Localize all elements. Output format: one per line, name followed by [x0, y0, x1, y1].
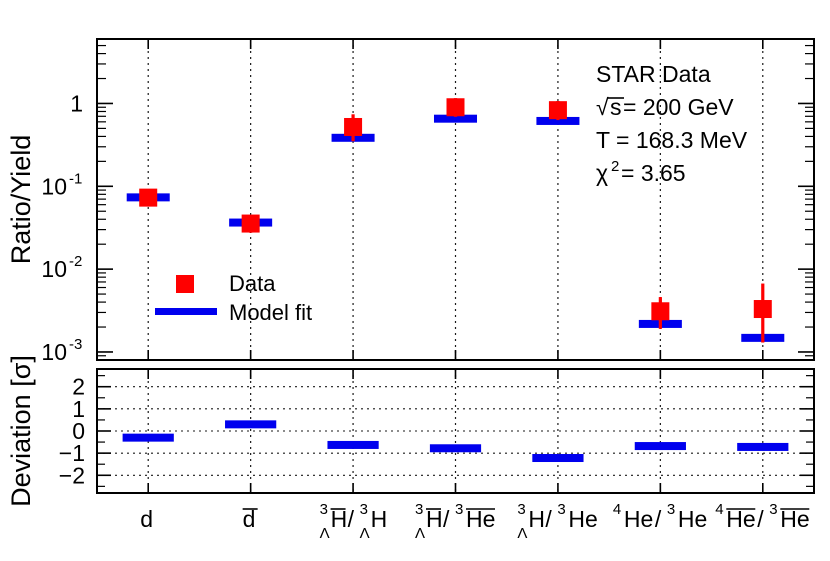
xlabel-species: d	[243, 506, 256, 532]
legend-data-label: Data	[229, 271, 276, 296]
chi-exponent: 2	[611, 158, 619, 175]
xlabel-species: He	[780, 506, 809, 532]
data-marker	[754, 300, 772, 318]
xlabel-lambda-subscript: Λ	[360, 525, 370, 542]
xlabel-species: He	[568, 506, 597, 532]
chi-squared-value: = 3.65	[621, 160, 686, 186]
lower-panel-y-axis-title: Deviation [σ]	[6, 355, 36, 507]
deviation-bar	[123, 434, 174, 442]
xlabel-species: H	[426, 506, 443, 532]
xlabel-ratio-separator: /	[655, 506, 662, 532]
xlabel-ratio-separator: /	[545, 506, 552, 532]
xlabel-mass-number: 3	[557, 501, 565, 518]
figure-root: 110-110-210-3Ratio/Yield 210−1−2Deviatio…	[0, 0, 830, 561]
xlabel-mass-number: 3	[517, 501, 525, 518]
x-axis-category-label: d	[140, 506, 153, 532]
deviation-bar	[635, 442, 686, 450]
x-axis-category-label: d	[243, 506, 258, 532]
deviation-bar	[225, 420, 276, 428]
x-axis-category-label: 4He/3He	[715, 501, 809, 532]
data-marker	[139, 189, 157, 207]
legend-model-swatch	[155, 308, 217, 315]
xlabel-ratio-separator: /	[757, 506, 764, 532]
upper-ytick-label: 10	[41, 339, 67, 365]
upper-ytick-label: 10	[41, 256, 67, 282]
data-marker	[549, 101, 567, 119]
upper-ytick-label-exp: -2	[69, 253, 82, 270]
deviation-bar	[532, 454, 583, 462]
sqrt-radical-icon: √	[596, 94, 609, 120]
deviation-bar	[430, 444, 481, 452]
xlabel-mass-number: 3	[769, 501, 777, 518]
xlabel-mass-number: 4	[715, 501, 723, 518]
xlabel-lambda-subscript: Λ	[320, 525, 330, 542]
xlabel-species: H	[371, 506, 388, 532]
xlabel-mass-number: 3	[455, 501, 463, 518]
physics-ratio-yield-plot: 110-110-210-3Ratio/Yield 210−1−2Deviatio…	[0, 0, 830, 561]
upper-ytick-label-exp: -1	[69, 170, 82, 187]
chi-symbol: χ	[596, 160, 608, 186]
xlabel-species: He	[678, 506, 707, 532]
annotation-star-data: STAR Data	[596, 61, 711, 87]
deviation-bar	[327, 441, 378, 449]
xlabel-mass-number: 3	[360, 501, 368, 518]
upper-panel-y-axis-title: Ratio/Yield	[6, 135, 36, 265]
data-marker	[651, 302, 669, 320]
xlabel-mass-number: 3	[320, 501, 328, 518]
xlabel-mass-number: 3	[415, 501, 423, 518]
upper-ytick-label: 10	[41, 173, 67, 199]
legend-model-label: Model fit	[229, 300, 312, 325]
x-axis-category-label: 4He/3He	[613, 501, 707, 532]
xlabel-species: H	[528, 506, 545, 532]
upper-ytick-label-exp: -3	[69, 336, 82, 353]
sqrt-s-value: = 200 GeV	[623, 94, 734, 120]
data-marker	[242, 215, 260, 233]
xlabel-lambda-subscript: Λ	[415, 525, 425, 542]
xlabel-mass-number: 3	[667, 501, 675, 518]
xlabel-species: He	[466, 506, 495, 532]
lower-ytick-label: −2	[59, 462, 85, 488]
xlabel-species: H	[331, 506, 348, 532]
xlabel-lambda-subscript: Λ	[517, 525, 527, 542]
data-marker	[344, 118, 362, 136]
xlabel-mass-number: 4	[613, 501, 621, 518]
annotation-sqrt-s: √s = 200 GeV	[596, 94, 734, 120]
xlabel-species: He	[726, 506, 755, 532]
upper-ytick-label: 1	[70, 90, 83, 116]
deviation-bar	[737, 443, 788, 451]
xlabel-ratio-separator: /	[443, 506, 450, 532]
legend-data-swatch	[176, 275, 194, 293]
xlabel-species: He	[624, 506, 653, 532]
data-marker	[447, 98, 465, 116]
xlabel-species: d	[140, 506, 153, 532]
xlabel-ratio-separator: /	[348, 506, 355, 532]
annotation-temperature: T = 168.3 MeV	[596, 127, 748, 153]
